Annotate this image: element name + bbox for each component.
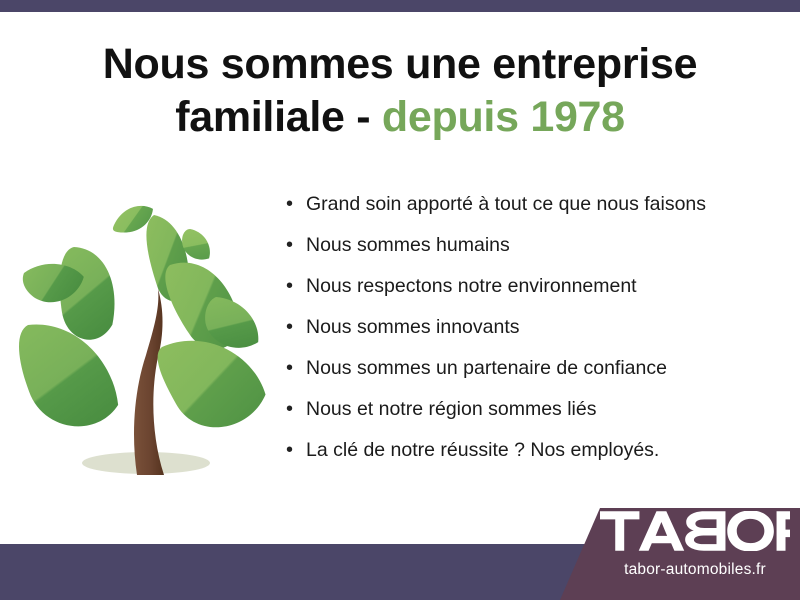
list-item-label: La clé de notre réussite ? Nos employés.	[306, 437, 659, 463]
logo-text-group: tabor-automobiles.fr	[595, 511, 795, 579]
tree-leaf	[156, 333, 268, 433]
list-item: • Nous sommes innovants	[286, 314, 786, 355]
list-item-label: Nous sommes innovants	[306, 314, 520, 340]
list-item: • Nous sommes un partenaire de confiance	[286, 355, 786, 396]
slide-canvas: Nous sommes une entreprise familiale - d…	[0, 0, 800, 600]
bullet-marker-icon: •	[286, 355, 306, 381]
page-title-line-1: Nous sommes une entreprise	[40, 38, 760, 91]
bullet-marker-icon: •	[286, 191, 306, 217]
tree-trunk	[134, 289, 164, 475]
brand-logo: tabor-automobiles.fr	[540, 500, 800, 600]
top-accent-band	[0, 0, 800, 12]
list-item-label: Nous sommes humains	[306, 232, 510, 258]
page-title-line-2-plain: familiale -	[175, 93, 382, 141]
list-item: • Nous et notre région sommes liés	[286, 396, 786, 437]
list-item-label: Nous respectons notre environnement	[306, 273, 637, 299]
list-item: • Grand soin apporté à tout ce que nous …	[286, 191, 786, 232]
list-item-label: Nous sommes un partenaire de confiance	[306, 355, 667, 381]
list-item: • Nous sommes humains	[286, 232, 786, 273]
page-title-accent: depuis 1978	[382, 93, 625, 141]
bullet-marker-icon: •	[286, 437, 306, 463]
list-item: • La clé de notre réussite ? Nos employé…	[286, 437, 786, 478]
tree-illustration	[18, 185, 276, 485]
bullet-marker-icon: •	[286, 396, 306, 422]
page-title-line-2: familiale - depuis 1978	[40, 91, 760, 144]
list-item-label: Nous et notre région sommes liés	[306, 396, 596, 422]
tree-leaf	[18, 323, 126, 431]
list-item-label: Grand soin apporté à tout ce que nous fa…	[306, 191, 706, 217]
bullet-marker-icon: •	[286, 273, 306, 299]
page-title: Nous sommes une entreprise familiale - d…	[40, 38, 760, 144]
value-bullet-list: • Grand soin apporté à tout ce que nous …	[286, 191, 786, 478]
bullet-marker-icon: •	[286, 232, 306, 258]
bullet-marker-icon: •	[286, 314, 306, 340]
list-item: • Nous respectons notre environnement	[286, 273, 786, 314]
logo-website-url: tabor-automobiles.fr	[595, 560, 795, 579]
logo-wordmark	[595, 511, 795, 559]
